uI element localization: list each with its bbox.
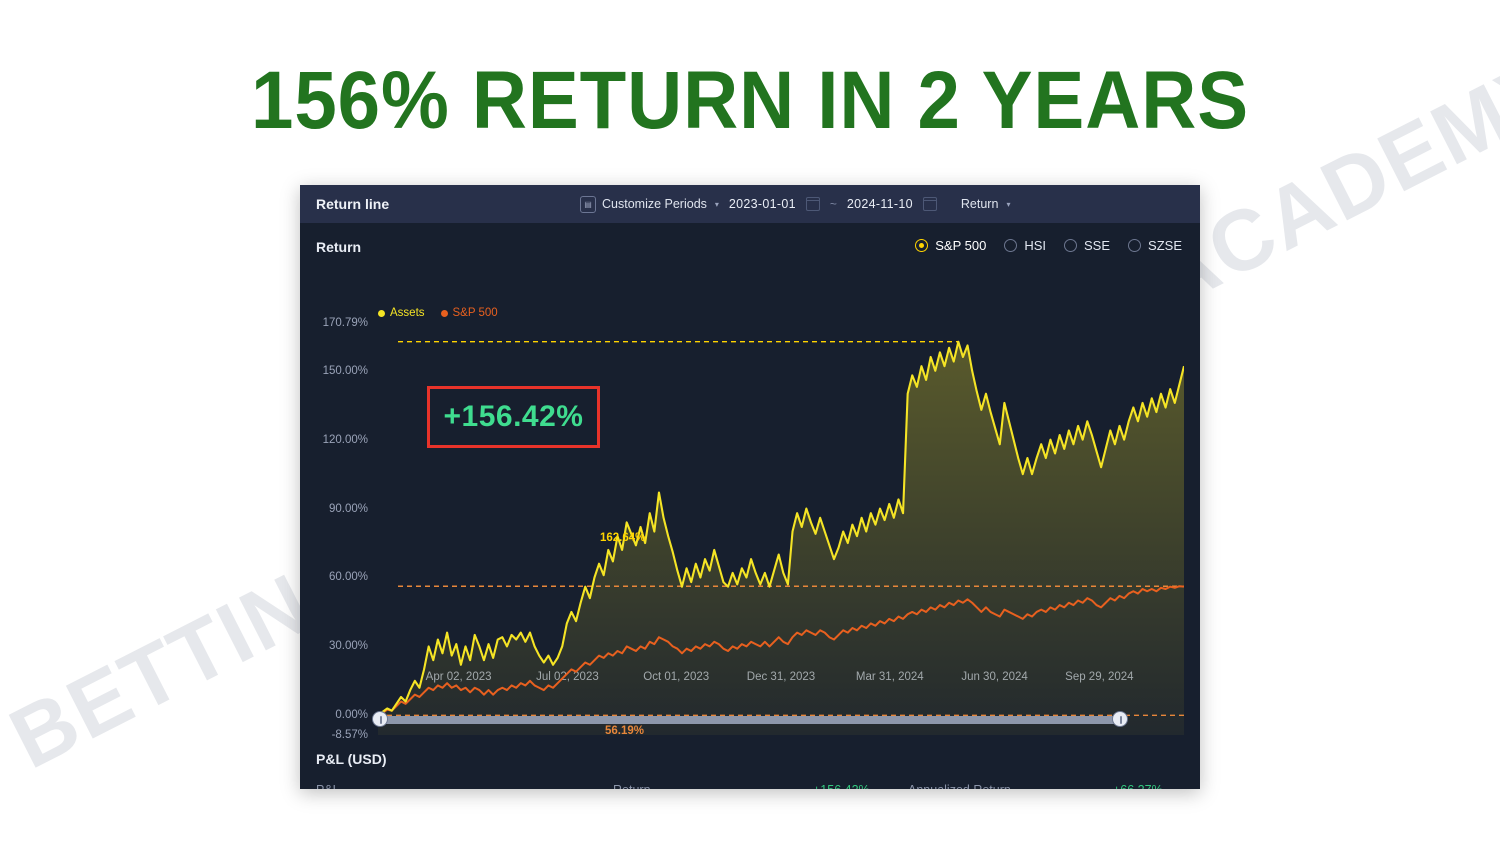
- panel-header: Return line ▤ Customize Periods ▾ 2023-0…: [300, 185, 1200, 223]
- radio-szse[interactable]: SZSE: [1128, 238, 1182, 253]
- end-date-value: 2024-11-10: [847, 197, 913, 211]
- y-axis-tick: 170.79%: [323, 317, 368, 329]
- page-root: BETTING ACADEMY 156% RETURN IN 2 YEARS R…: [0, 0, 1500, 844]
- legend-item-benchmark[interactable]: S&P 500: [441, 307, 498, 319]
- annualized-return-value: +66.27%: [1113, 783, 1163, 789]
- legend-item-assets[interactable]: Assets: [378, 307, 425, 319]
- page-headline: 156% RETURN IN 2 YEARS: [53, 55, 1448, 147]
- slider-handle-right[interactable]: [1112, 711, 1128, 727]
- pnl-label: P&L: [316, 783, 340, 789]
- radio-sse[interactable]: SSE: [1064, 238, 1110, 253]
- chart-svg: [378, 323, 1184, 735]
- y-axis-tick: -8.57%: [332, 729, 368, 741]
- end-date-calendar-icon[interactable]: [923, 197, 937, 211]
- legend-swatch-icon: [441, 310, 448, 317]
- radio-dot-icon: [1004, 239, 1017, 252]
- radio-hsi-label: HSI: [1024, 238, 1046, 253]
- return-callout-box: +156.42%: [427, 386, 600, 448]
- time-range-slider[interactable]: [372, 710, 1128, 730]
- annualized-return-label: Annualized Return: [908, 783, 1011, 789]
- metric-dropdown-label: Return: [961, 197, 999, 211]
- pnl-summary-row: P&L Return +156.42% Annualized Return +6…: [300, 783, 1200, 789]
- y-axis: 170.79%150.00%120.00%90.00%60.00%30.00%0…: [300, 323, 376, 743]
- return-label: Return: [613, 783, 651, 789]
- radio-dot-icon: [1064, 239, 1077, 252]
- radio-szse-label: SZSE: [1148, 238, 1182, 253]
- return-value: +156.42%: [813, 783, 870, 789]
- radio-sse-label: SSE: [1084, 238, 1110, 253]
- panel-title: Return line: [316, 196, 389, 212]
- chevron-down-icon: ▾: [715, 200, 719, 209]
- chart-legend: Assets S&P 500: [378, 307, 498, 319]
- y-axis-tick: 0.00%: [335, 709, 368, 721]
- customize-periods-control[interactable]: ▤ Customize Periods ▾: [580, 196, 719, 213]
- slider-handle-left[interactable]: [372, 711, 388, 727]
- legend-swatch-icon: [378, 310, 385, 317]
- slider-track[interactable]: [378, 716, 1122, 724]
- legend-label-assets: Assets: [390, 307, 425, 319]
- panel-body: Return S&P 500 HSI SSE SZSE: [300, 223, 1200, 789]
- chart-plot-area: [378, 323, 1184, 735]
- annotation-assets-peak: 162.64%: [600, 532, 645, 544]
- y-axis-tick: 60.00%: [329, 571, 368, 583]
- end-date-field[interactable]: 2024-11-10: [847, 197, 913, 211]
- radio-dot-icon: [1128, 239, 1141, 252]
- chart-title: Return: [316, 239, 361, 255]
- radio-sp500[interactable]: S&P 500: [915, 238, 986, 253]
- radio-sp500-label: S&P 500: [935, 238, 986, 253]
- customize-periods-label: Customize Periods: [602, 197, 707, 211]
- y-axis-tick: 90.00%: [329, 503, 368, 515]
- radio-hsi[interactable]: HSI: [1004, 238, 1046, 253]
- y-axis-tick: 150.00%: [323, 365, 368, 377]
- chevron-down-icon: ▾: [1006, 200, 1010, 209]
- return-callout-value: +156.42%: [444, 400, 584, 434]
- y-axis-tick: 120.00%: [323, 434, 368, 446]
- start-date-value: 2023-01-01: [729, 197, 796, 211]
- return-line-panel: Return line ▤ Customize Periods ▾ 2023-0…: [300, 185, 1200, 789]
- benchmark-radio-group: S&P 500 HSI SSE SZSE: [915, 238, 1182, 253]
- y-axis-tick: 30.00%: [329, 640, 368, 652]
- start-date-calendar-icon[interactable]: [806, 197, 820, 211]
- radio-dot-icon: [915, 239, 928, 252]
- start-date-field[interactable]: 2023-01-01: [729, 197, 796, 211]
- metric-dropdown[interactable]: Return ▾: [961, 197, 1011, 211]
- calendar-box-icon: ▤: [580, 196, 596, 213]
- panel-header-controls: ▤ Customize Periods ▾ 2023-01-01 ~ 2024-…: [580, 185, 1190, 223]
- pnl-section-title: P&L (USD): [316, 751, 387, 767]
- legend-label-benchmark: S&P 500: [453, 307, 498, 319]
- date-range-separator: ~: [830, 197, 837, 211]
